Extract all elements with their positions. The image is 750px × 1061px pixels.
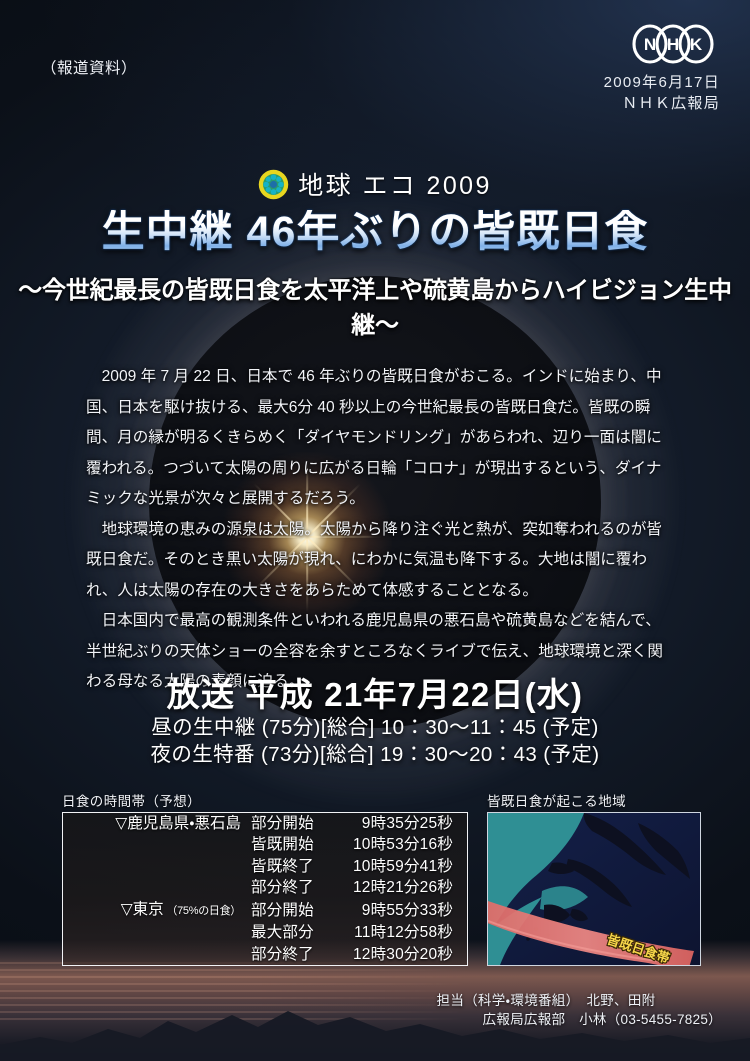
timetable-place: ▽鹿児島県・悪石島 bbox=[63, 813, 251, 834]
timetable-phase: 最大部分 bbox=[251, 922, 337, 943]
eco-banner-label: 地球 エコ 2009 bbox=[298, 166, 492, 202]
table-row: 皆既終了10時59分41秒 bbox=[63, 856, 467, 877]
page-title: 生中継 46年ぶりの皆既日食 bbox=[0, 210, 750, 255]
timetable-caption: 日食の時間帯（予想） bbox=[62, 790, 201, 810]
nhk-logo-icon: N H K bbox=[626, 24, 720, 64]
timetable-place bbox=[63, 944, 251, 965]
timetable-place bbox=[63, 834, 251, 855]
broadcast-heading: 放送 平成 21年7月22日(水) bbox=[0, 668, 750, 716]
document-type-label: （報道資料） bbox=[41, 56, 137, 78]
timetable-box: ▽鹿児島県・悪石島部分開始9時35分25秒皆既開始10時53分16秒皆既終了10… bbox=[62, 812, 468, 966]
timetable-place: ▽東京 （75%の日食） bbox=[63, 899, 251, 923]
broadcast-schedule: 昼の生中継 (75分)[総合] 10：30〜11：45 (予定) 夜の生特番 (… bbox=[0, 714, 750, 768]
body-paragraph: 2009 年 7 月 22 日、日本で 46 年ぶりの皆既日食がおこる。インドに… bbox=[86, 362, 676, 515]
contact-footer: 担当（科学・環境番組） 北野、田附 広報局広報部 小林（03-5455-7825… bbox=[437, 991, 722, 1029]
timetable-time: 12時21分26秒 bbox=[337, 877, 467, 898]
timetable-phase: 皆既終了 bbox=[251, 856, 337, 877]
issue-info: 2009年6月17日 ＮＨＫ広報局 bbox=[604, 72, 720, 115]
svg-text:N: N bbox=[644, 35, 656, 54]
press-release-page: （報道資料） N H K 2009年6月17日 ＮＨＫ広報局 bbox=[0, 0, 750, 1061]
timetable-time: 10時53分16秒 bbox=[337, 834, 467, 855]
table-row: 部分終了12時30分20秒 bbox=[63, 944, 467, 965]
timetable-phase: 部分開始 bbox=[251, 899, 337, 923]
table-row: 部分終了12時21分26秒 bbox=[63, 877, 467, 898]
timetable-time: 9時55分33秒 bbox=[337, 899, 467, 923]
table-row: 最大部分11時12分58秒 bbox=[63, 922, 467, 943]
timetable-time: 10時59分41秒 bbox=[337, 856, 467, 877]
table-row: 皆既開始10時53分16秒 bbox=[63, 834, 467, 855]
timetable-time: 12時30分20秒 bbox=[337, 944, 467, 965]
contact-line-1: 担当（科学・環境番組） 北野、田附 bbox=[437, 991, 722, 1010]
timetable-phase: 部分終了 bbox=[251, 877, 337, 898]
timetable-phase: 皆既開始 bbox=[251, 834, 337, 855]
timetable-place bbox=[63, 856, 251, 877]
timetable-phase: 部分終了 bbox=[251, 944, 337, 965]
issue-date: 2009年6月17日 bbox=[604, 72, 720, 93]
page-subtitle: 〜今世紀最長の皆既日食を太平洋上や硫黄島からハイビジョン生中継〜 bbox=[0, 270, 750, 340]
table-row: ▽東京 （75%の日食）部分開始9時55分33秒 bbox=[63, 899, 467, 923]
timetable-time: 9時35分25秒 bbox=[337, 813, 467, 834]
broadcast-line: 夜の生特番 (73分)[総合] 19：30〜20：43 (予定) bbox=[0, 741, 750, 768]
eclipse-timetable: ▽鹿児島県・悪石島部分開始9時35分25秒皆既開始10時53分16秒皆既終了10… bbox=[63, 813, 467, 965]
timetable-time: 11時12分58秒 bbox=[337, 922, 467, 943]
table-row: ▽鹿児島県・悪石島部分開始9時35分25秒 bbox=[63, 813, 467, 834]
eclipse-region-map: 皆既日食帯 bbox=[487, 812, 701, 966]
issuer-name: ＮＨＫ広報局 bbox=[604, 93, 720, 114]
eco-banner: 地球 エコ 2009 bbox=[0, 166, 750, 202]
japan-map-graphic: 皆既日食帯 bbox=[488, 813, 700, 965]
eco-flower-icon bbox=[258, 169, 289, 200]
svg-text:K: K bbox=[690, 35, 703, 54]
timetable-phase: 部分開始 bbox=[251, 813, 337, 834]
broadcast-line: 昼の生中継 (75分)[総合] 10：30〜11：45 (予定) bbox=[0, 714, 750, 741]
timetable-place bbox=[63, 877, 251, 898]
body-copy: 2009 年 7 月 22 日、日本で 46 年ぶりの皆既日食がおこる。インドに… bbox=[86, 362, 676, 698]
timetable-place bbox=[63, 922, 251, 943]
contact-line-2: 広報局広報部 小林（03-5455-7825） bbox=[437, 1010, 722, 1029]
body-paragraph: 地球環境の恵みの源泉は太陽。太陽から降り注ぐ光と熱が、突如奪われるのが皆既日食だ… bbox=[86, 515, 676, 607]
map-caption: 皆既日食が起こる地域 bbox=[487, 790, 626, 810]
svg-text:H: H bbox=[667, 35, 679, 54]
